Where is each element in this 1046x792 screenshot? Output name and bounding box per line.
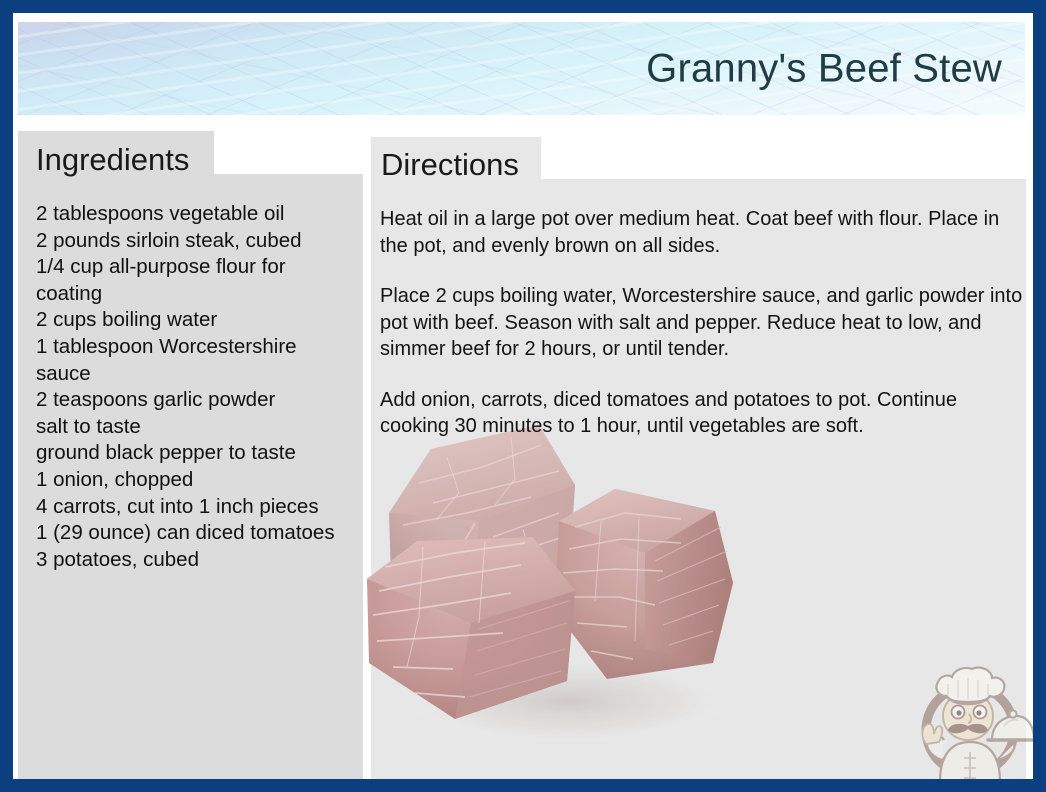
direction-step: Add onion, carrots, diced tomatoes and p… [380,387,1025,440]
list-item: salt to taste [36,414,356,441]
list-item: 4 carrots, cut into 1 inch pieces [36,494,356,521]
list-item: 2 tablespoons vegetable oil [36,201,356,228]
page-title: Granny's Beef Stew [646,46,1002,91]
list-item: 2 pounds sirloin steak, cubed [36,228,356,255]
beef-cubes-photo [363,401,783,771]
list-item: 1 onion, chopped [36,467,356,494]
list-item: ground black pepper to taste [36,440,356,467]
directions-heading: Directions [381,147,519,183]
list-item: 1/4 cup all-purpose flour for coating [36,254,356,307]
directions-list: Heat oil in a large pot over medium heat… [380,206,1025,440]
list-item: 3 potatoes, cubed [36,547,356,574]
direction-step: Place 2 cups boiling water, Worcestershi… [380,283,1025,363]
header-banner: Granny's Beef Stew [18,22,1025,115]
chef-logo-icon [906,656,1034,788]
list-item: 2 teaspoons garlic powder [36,387,356,414]
list-item: 1 tablespoon Worcestershire sauce [36,334,356,387]
ingredients-heading: Ingredients [36,142,189,178]
direction-step: Heat oil in a large pot over medium heat… [380,206,1025,259]
ingredients-list: 2 tablespoons vegetable oil 2 pounds sir… [36,201,356,573]
list-item: 1 (29 ounce) can diced tomatoes [36,520,356,547]
list-item: 2 cups boiling water [36,307,356,334]
recipe-card: Granny's Beef Stew Ingredients 2 tablesp… [0,0,1046,792]
